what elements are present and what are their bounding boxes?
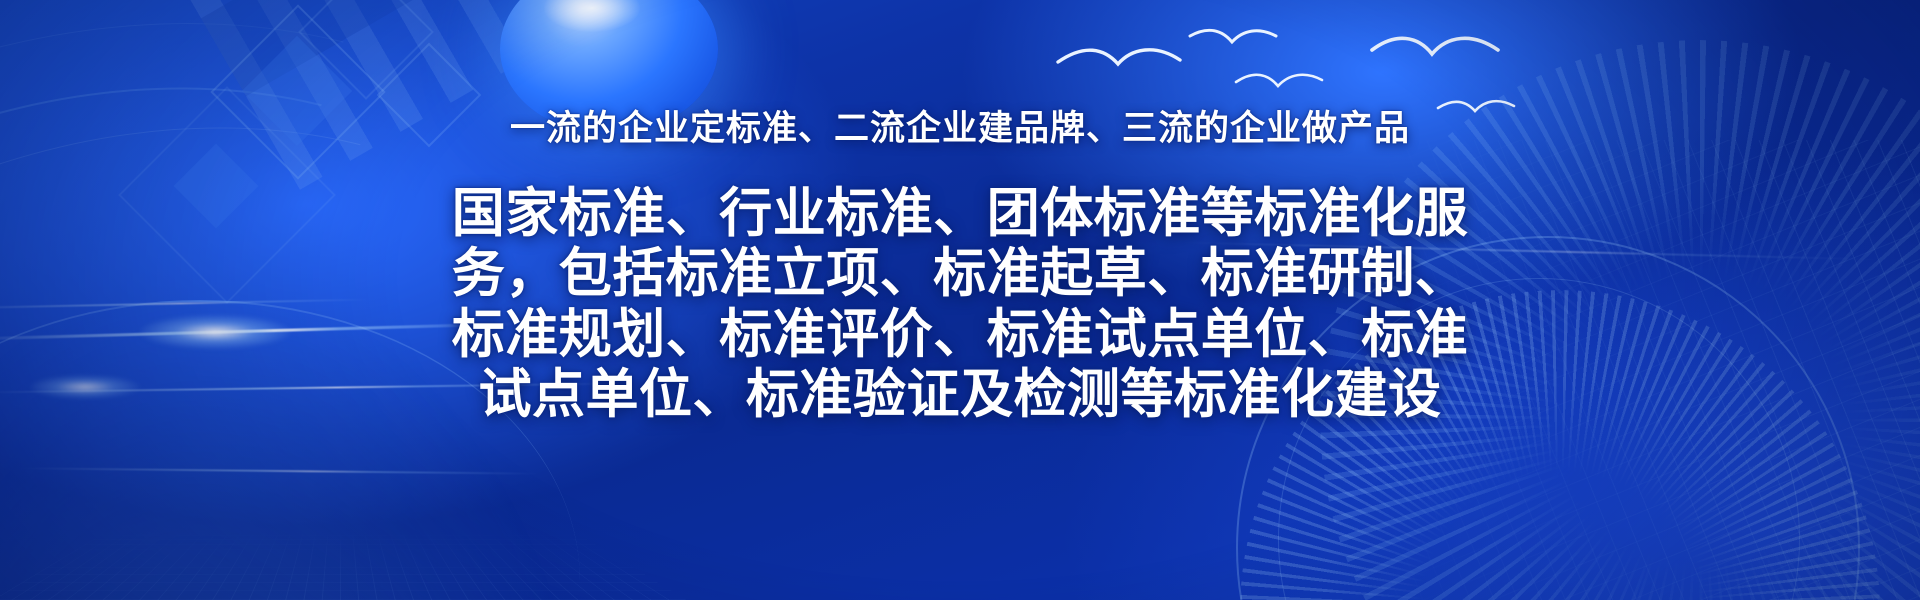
banner-body-line: 务，包括标准立项、标准起草、标准研制、 [300, 244, 1620, 304]
banner-text-stack: 一流的企业定标准、二流企业建品牌、三流的企业做产品 国家标准、行业标准、团体标准… [0, 108, 1920, 426]
banner-headline: 一流的企业定标准、二流企业建品牌、三流的企业做产品 [0, 108, 1920, 150]
banner-body-line: 国家标准、行业标准、团体标准等标准化服 [300, 184, 1620, 244]
banner-body-line: 标准规划、标准评价、标准试点单位、标准 [300, 305, 1620, 365]
promo-banner: 一流的企业定标准、二流企业建品牌、三流的企业做产品 国家标准、行业标准、团体标准… [0, 0, 1920, 600]
banner-body: 国家标准、行业标准、团体标准等标准化服 务，包括标准立项、标准起草、标准研制、 … [0, 184, 1920, 426]
banner-body-line: 试点单位、标准验证及检测等标准化建设 [300, 365, 1620, 425]
